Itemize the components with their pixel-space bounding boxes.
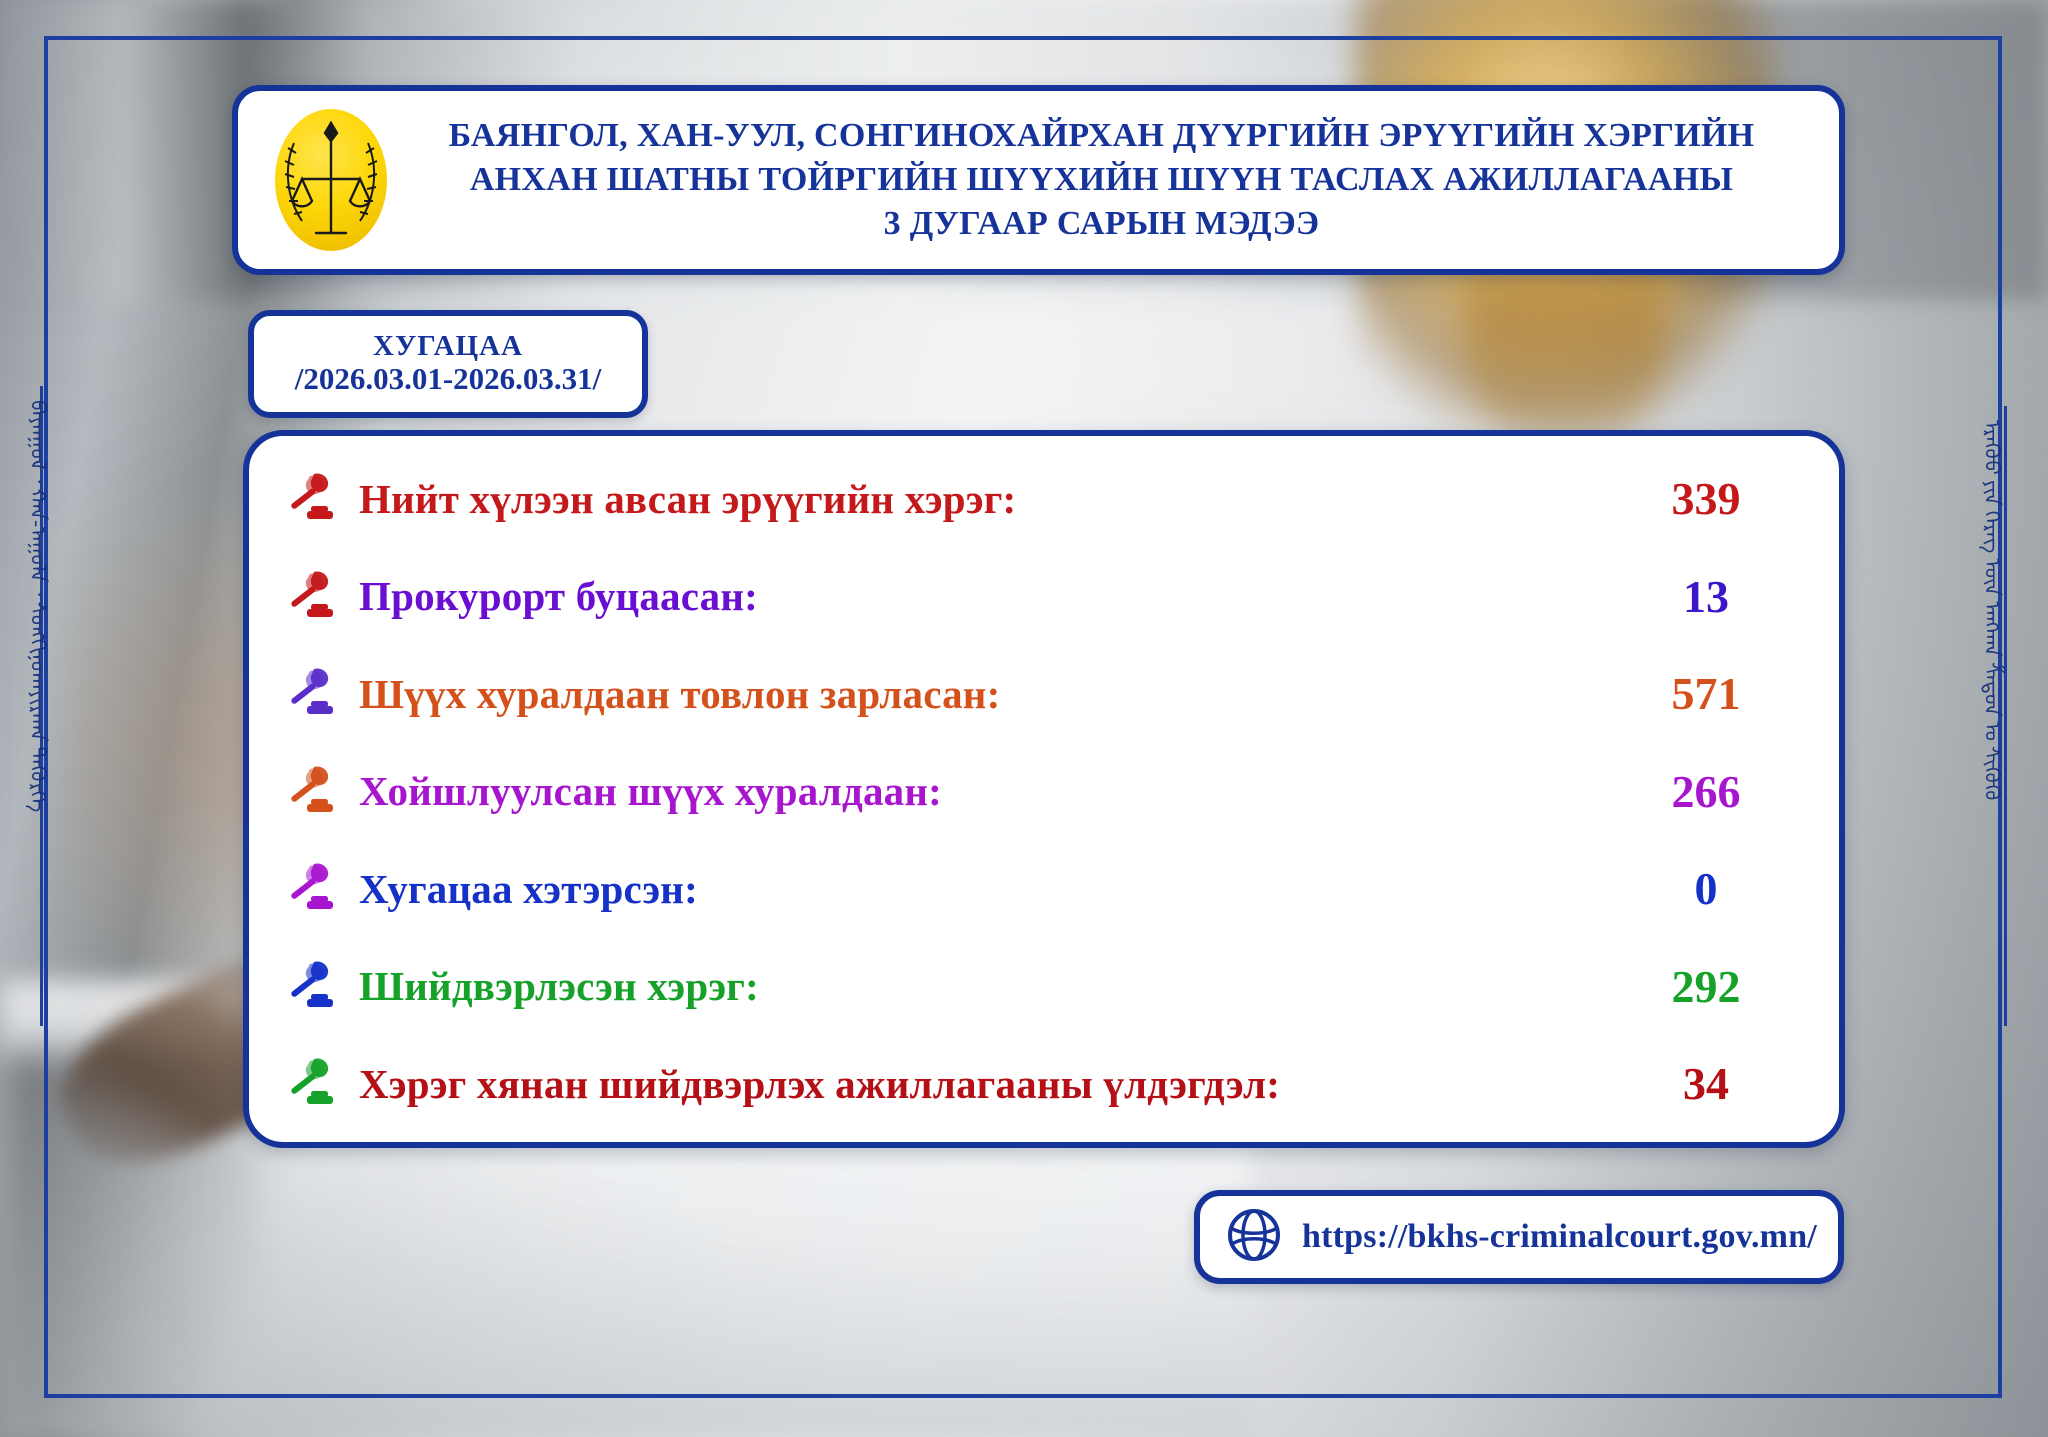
statistic-value: 292	[1631, 960, 1781, 1013]
website-badge[interactable]: https://bkhs-criminalcourt.gov.mn/	[1194, 1190, 1844, 1284]
website-url[interactable]: https://bkhs-criminalcourt.gov.mn/	[1302, 1218, 1817, 1256]
statistic-row: Хугацаа хэтэрсэн:0	[283, 860, 1781, 917]
statistic-label: Шүүх хуралдаан товлон зарласан:	[359, 670, 1613, 718]
period-range: /2026.03.01-2026.03.31/	[295, 362, 602, 397]
statistic-value: 0	[1631, 862, 1781, 915]
statistic-value: 339	[1631, 472, 1781, 525]
mongolian-script-left: ᠪᠠᠶᠠᠨᠭᠤᠯ ᠂ ᠬᠠᠨ-ᠠᠭᠤᠯᠠ ᠂ ᠰᠣᠩᠭᠢᠨᠤᠬᠠᠶᠢᠷᠬᠠᠨ ᠳ…	[26, 400, 49, 812]
court-emblem-icon	[272, 105, 390, 255]
title-line-2: АНХАН ШАТНЫ ТОЙРГИЙН ШҮҮХИЙН ШҮҮН ТАСЛАХ…	[404, 158, 1799, 202]
statistics-card: Нийт хүлээн авсан эрүүгийн хэрэг:339 Про…	[243, 430, 1845, 1148]
statistic-label: Хэрэг хянан шийдвэрлэх ажиллагааны үлдэг…	[359, 1060, 1613, 1108]
gavel-icon	[283, 470, 341, 527]
frame-corner-bottom-right	[1916, 1312, 2002, 1398]
gavel-icon	[283, 1055, 341, 1112]
gavel-icon	[283, 568, 341, 625]
page-title: БАЯНГОЛ, ХАН-УУЛ, СОНГИНОХАЙРХАН ДҮҮРГИЙ…	[390, 114, 1839, 247]
statistic-value: 34	[1631, 1057, 1781, 1110]
statistic-value: 266	[1631, 765, 1781, 818]
mongolian-script-right: ᠡᠷᠡᠭᠦᠦ ᠶᠢᠨ ᠬᠡᠷᠡᠭ ᠦᠨ ᠠᠩᠬᠠᠨ ᠱᠠᠲᠤᠨ ᠤ ᠰᠢᠭᠦᠬᠦ	[1980, 420, 2003, 800]
statistic-row: Шийдвэрлэсэн хэрэг:292	[283, 958, 1781, 1015]
statistic-row: Шүүх хуралдаан товлон зарласан:571	[283, 665, 1781, 722]
statistics-list: Нийт хүлээн авсан эрүүгийн хэрэг:339 Про…	[283, 470, 1781, 1112]
statistic-row: Прокурорт буцаасан:13	[283, 568, 1781, 625]
statistic-label: Нийт хүлээн авсан эрүүгийн хэрэг:	[359, 475, 1613, 523]
poster-root: ᠪᠠᠶᠠᠨᠭᠤᠯ ᠂ ᠬᠠᠨ-ᠠᠭᠤᠯᠠ ᠂ ᠰᠣᠩᠭᠢᠨᠤᠬᠠᠶᠢᠷᠬᠠᠨ ᠳ…	[0, 0, 2048, 1437]
title-line-3: 3 ДУГААР САРЫН МЭДЭЭ	[404, 202, 1799, 246]
header-card: БАЯНГОЛ, ХАН-УУЛ, СОНГИНОХАЙРХАН ДҮҮРГИЙ…	[232, 85, 1845, 275]
statistic-row: Хэрэг хянан шийдвэрлэх ажиллагааны үлдэг…	[283, 1055, 1781, 1112]
side-rule-right	[2004, 406, 2007, 1026]
statistic-row: Нийт хүлээн авсан эрүүгийн хэрэг:339	[283, 470, 1781, 527]
frame-corner-top-right	[1916, 36, 2002, 122]
statistic-label: Прокурорт буцаасан:	[359, 572, 1613, 620]
globe-icon	[1226, 1207, 1282, 1268]
gavel-icon	[283, 958, 341, 1015]
statistic-row: Хойшлуулсан шүүх хуралдаан:266	[283, 763, 1781, 820]
gavel-icon	[283, 763, 341, 820]
statistic-label: Хугацаа хэтэрсэн:	[359, 865, 1613, 913]
statistic-value: 13	[1631, 570, 1781, 623]
statistic-value: 571	[1631, 667, 1781, 720]
gavel-icon	[283, 860, 341, 917]
frame-corner-bottom-left	[44, 1312, 130, 1398]
frame-corner-top-left	[44, 36, 130, 122]
title-line-1: БАЯНГОЛ, ХАН-УУЛ, СОНГИНОХАЙРХАН ДҮҮРГИЙ…	[404, 114, 1799, 158]
statistic-label: Хойшлуулсан шүүх хуралдаан:	[359, 767, 1613, 815]
period-label: ХУГАЦАА	[373, 331, 523, 361]
gavel-icon	[283, 665, 341, 722]
statistic-label: Шийдвэрлэсэн хэрэг:	[359, 962, 1613, 1010]
period-badge: ХУГАЦАА /2026.03.01-2026.03.31/	[248, 310, 648, 418]
